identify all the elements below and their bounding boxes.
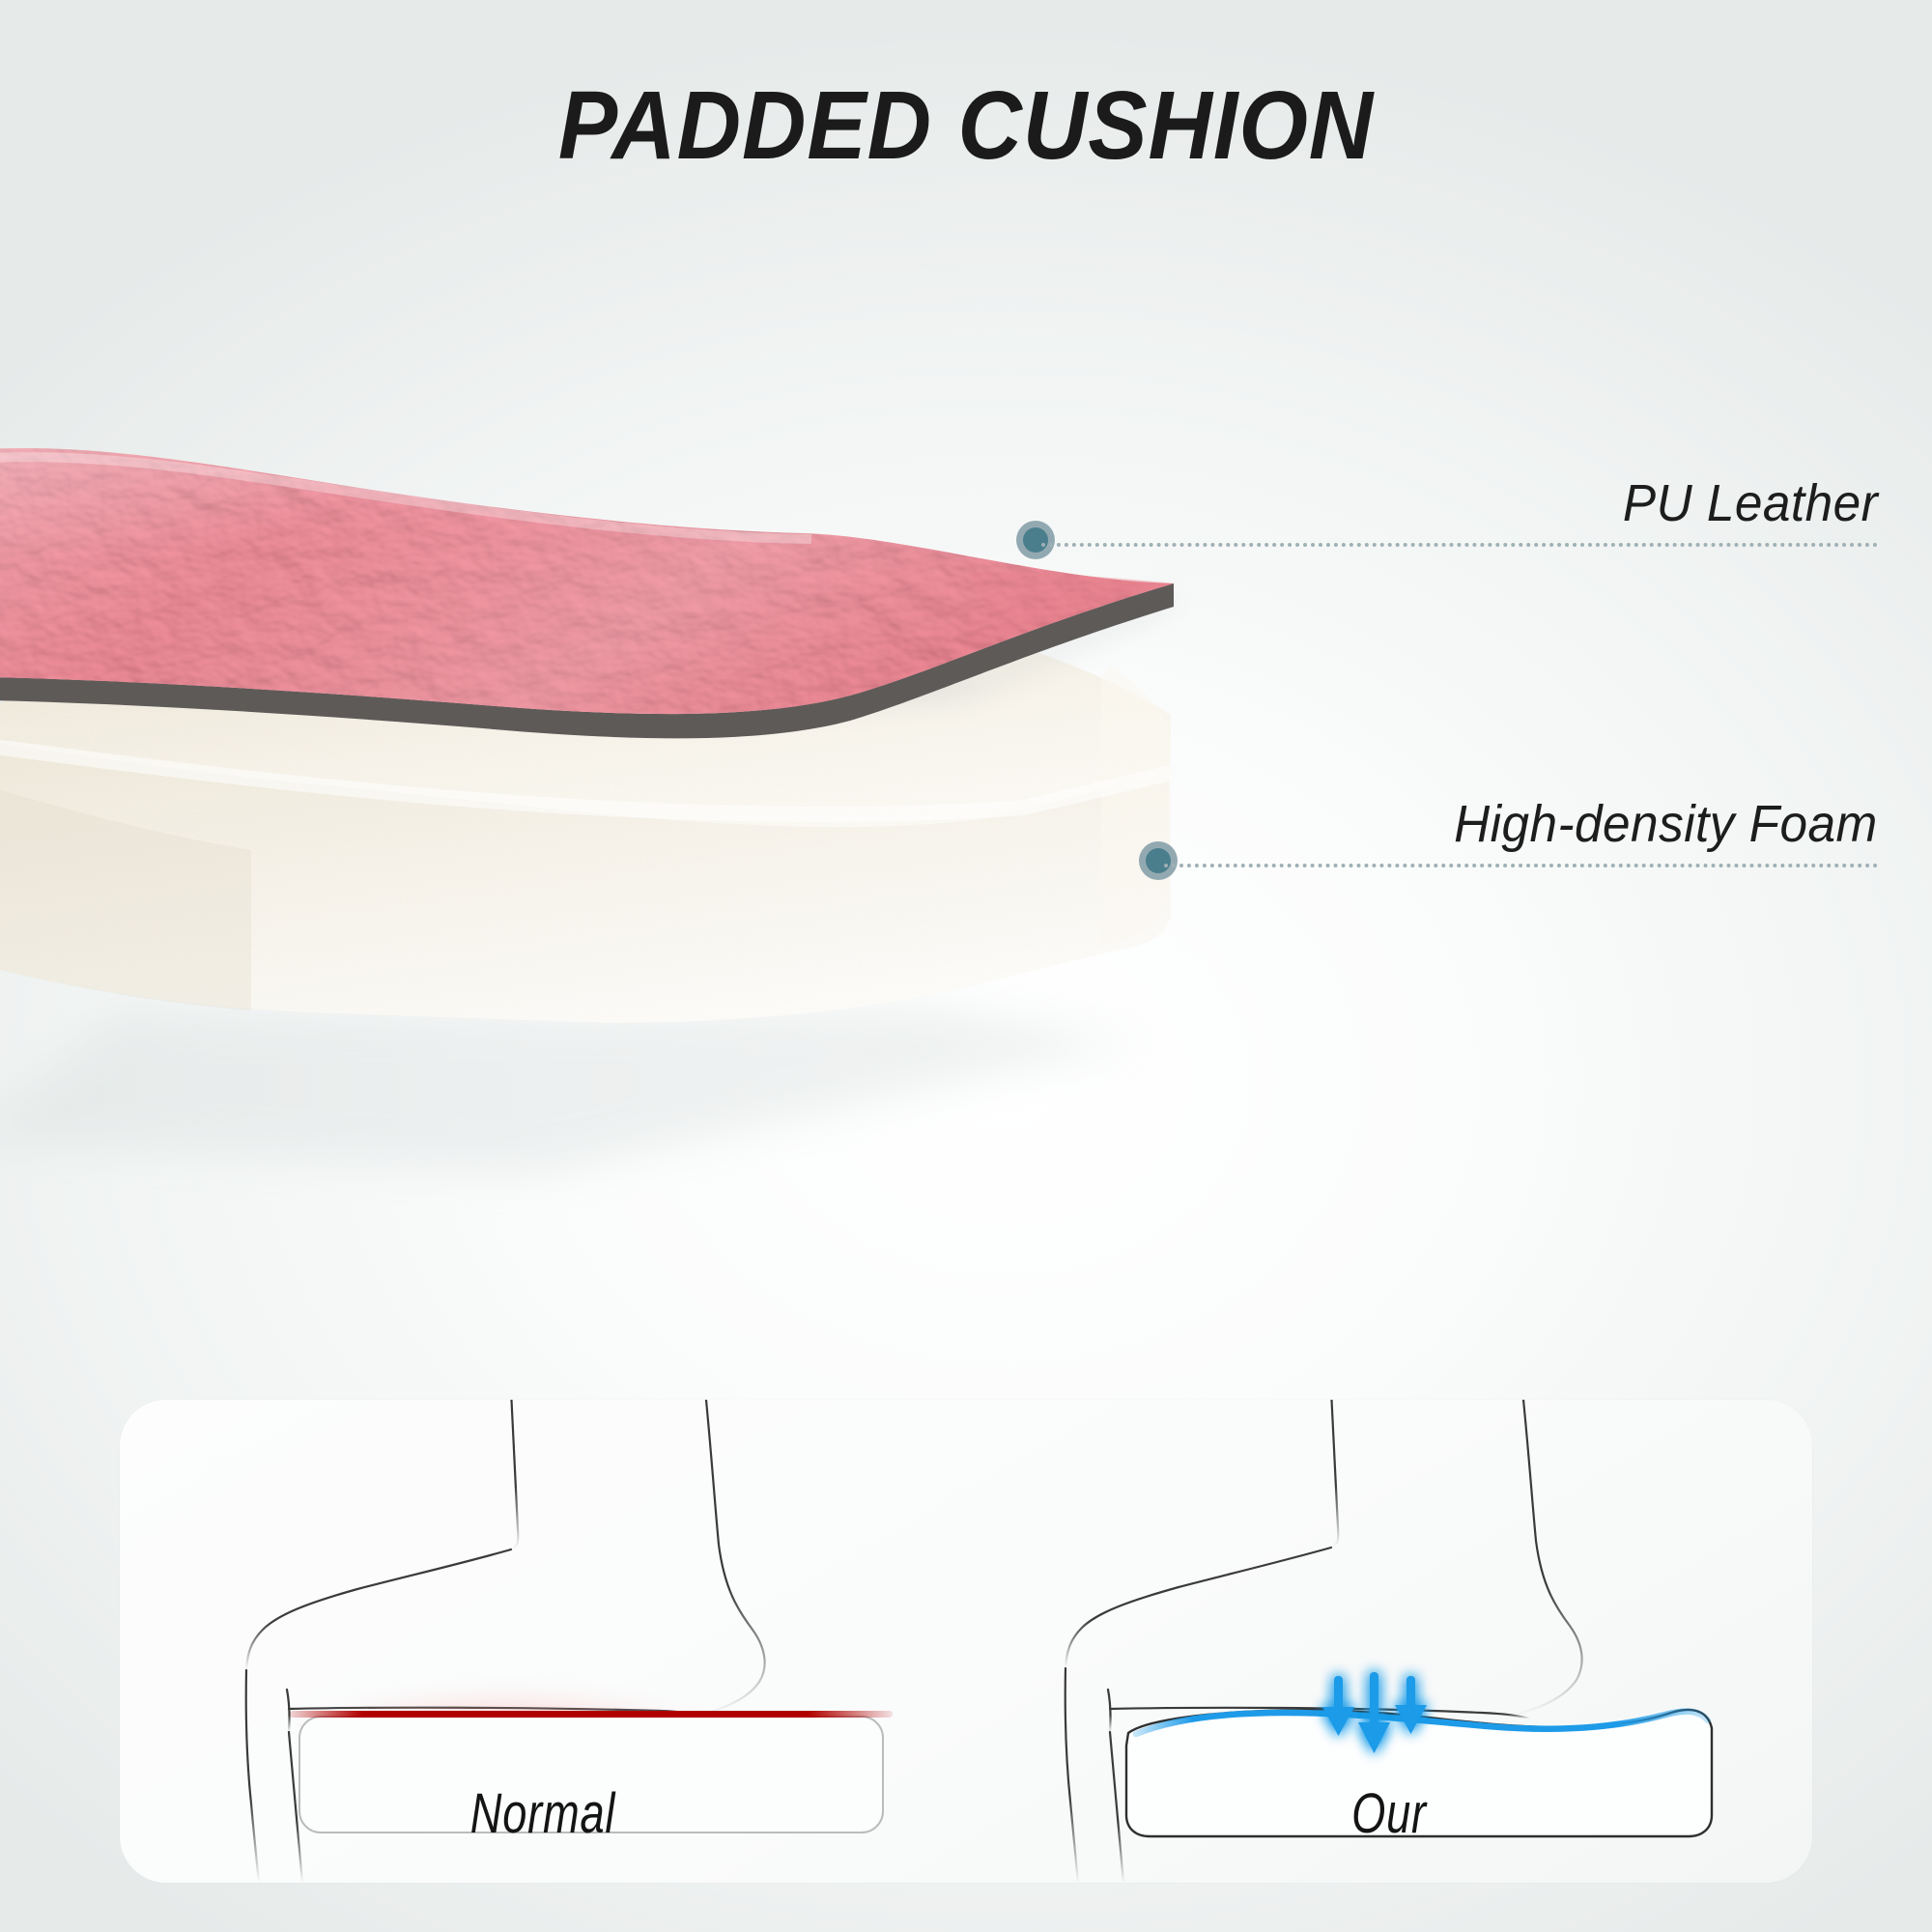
callout-leader-line-high-density-foam [1164, 864, 1878, 867]
comparison-label-our: Our [1059, 1781, 1719, 1846]
comparison-panel-our: Our [966, 1400, 1812, 1883]
comparison-label-normal: Normal [213, 1781, 872, 1846]
comparison-panel-normal: Normal [120, 1400, 966, 1883]
callout-dot-high-density-foam [1139, 841, 1178, 880]
normal-pressure-line [290, 1711, 893, 1718]
callout-label-high-density-foam: High-density Foam [1454, 794, 1878, 854]
comparison-panel: Normal [120, 1400, 1812, 1883]
page-title: PADDED CUSHION [77, 75, 1855, 177]
foam-layer [0, 594, 1171, 1174]
infographic-canvas: PADDED CUSHION [0, 0, 1932, 1932]
callout-leader-line-pu-leather [1041, 543, 1878, 547]
pu-leather-layer [0, 448, 1174, 738]
callout-dot-pu-leather [1016, 521, 1055, 559]
callout-label-pu-leather: PU Leather [1623, 473, 1878, 533]
